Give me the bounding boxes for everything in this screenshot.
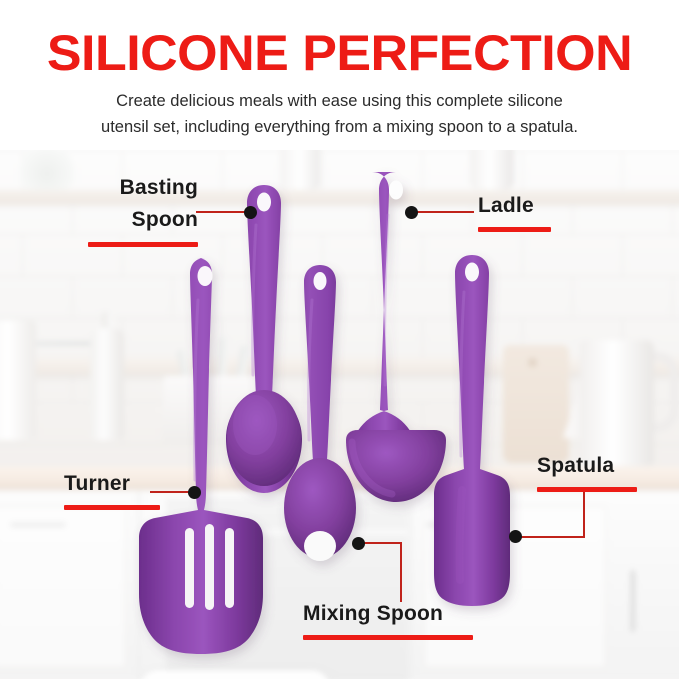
callout-dot-spatula	[509, 530, 522, 543]
callout-label-ladle: Ladle	[478, 192, 608, 219]
callout-label-spatula: Spatula	[537, 452, 679, 479]
product-infographic: SILICONE PERFECTION Create delicious mea…	[0, 0, 679, 679]
callout-ladle[interactable]: Ladle	[478, 192, 608, 232]
callout-underline-turner	[64, 505, 160, 510]
turner-slots	[185, 524, 234, 610]
callout-dot-basting-spoon	[244, 206, 257, 219]
leader-line-mixing-spoon-horizontal	[362, 542, 402, 544]
callout-label-basting-spoon-line2: Spoon	[56, 204, 198, 236]
callout-underline-ladle	[478, 227, 551, 232]
callout-underline-spatula	[537, 487, 637, 492]
callout-underline-basting-spoon	[88, 242, 198, 247]
leader-line-ladle	[416, 211, 474, 213]
utensil-spatula	[434, 255, 510, 606]
leader-line-spatula-horizontal	[518, 536, 585, 538]
callout-mixing-spoon[interactable]: Mixing Spoon	[303, 600, 475, 640]
utensil-set-illustration	[0, 0, 679, 679]
callout-label-basting-spoon-line1: Basting	[56, 172, 198, 204]
utensil-basting-spoon	[226, 185, 302, 493]
callout-spatula[interactable]: Spatula	[537, 452, 679, 492]
callout-dot-ladle	[405, 206, 418, 219]
callout-underline-mixing-spoon	[303, 635, 473, 640]
callout-dot-turner	[188, 486, 201, 499]
utensil-ladle	[346, 172, 446, 502]
callout-basting-spoon[interactable]: Basting Spoon	[56, 172, 198, 247]
leader-line-mixing-spoon-vertical	[400, 542, 402, 602]
leader-line-spatula-vertical	[583, 492, 585, 538]
callout-dot-mixing-spoon	[352, 537, 365, 550]
callout-label-mixing-spoon: Mixing Spoon	[303, 600, 475, 627]
